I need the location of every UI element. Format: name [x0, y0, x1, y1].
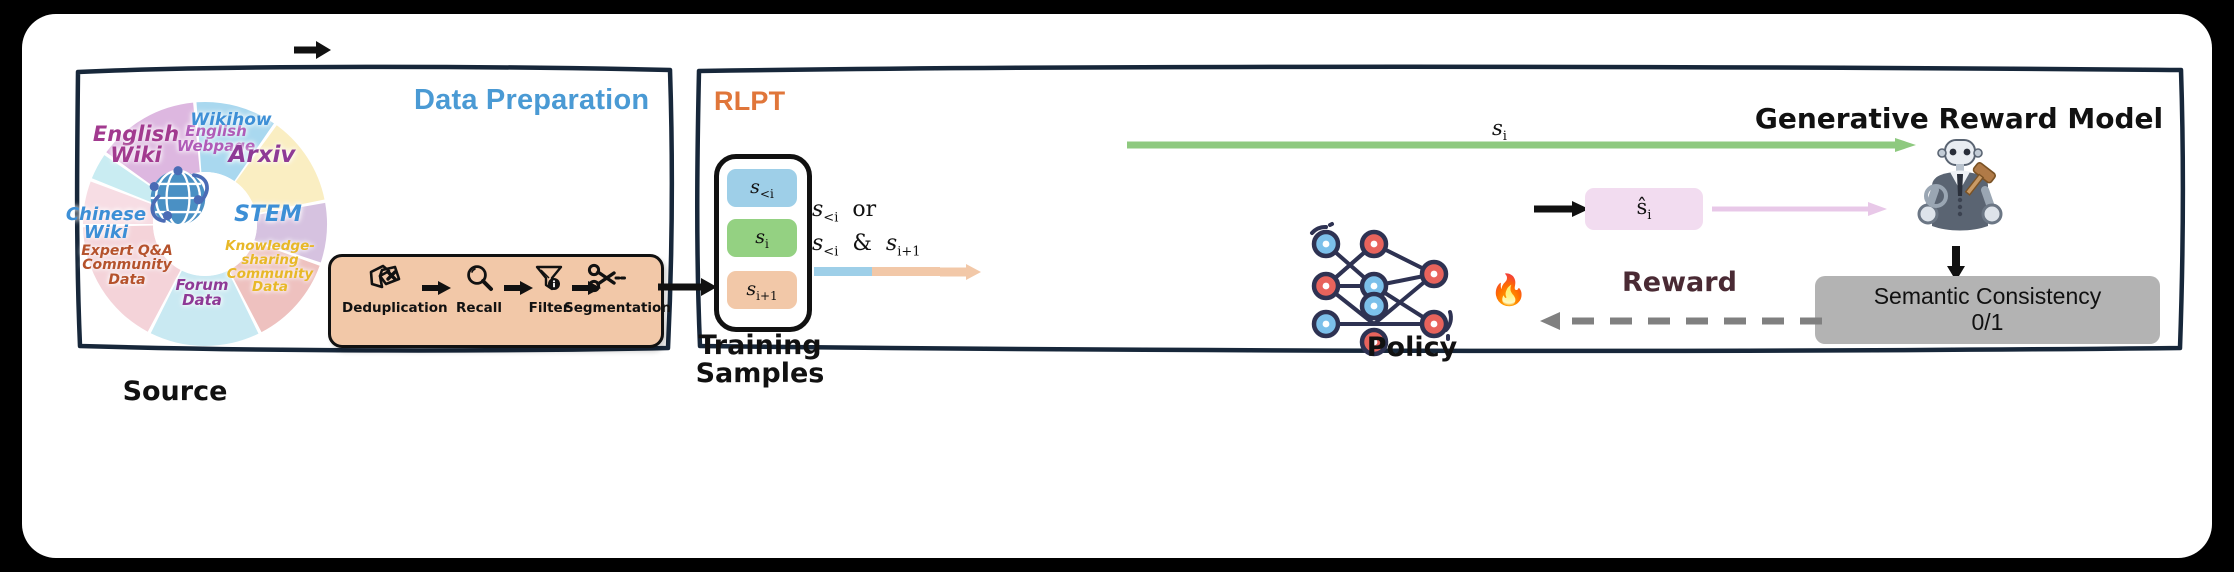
arrow-si-to-reward-model: [1127, 137, 1917, 153]
donut-label-wikihow: Wikihow: [186, 112, 276, 129]
semantic-consistency-line2: 0/1: [1972, 310, 2004, 336]
policy-caption: Policy: [1322, 332, 1502, 363]
arrow-source-to-pipeline: [294, 38, 332, 62]
si-flow-label: si: [1492, 116, 1507, 144]
donut-label-expert-qa: Expert Q&A Community Data: [80, 244, 174, 287]
prediction-box: ŝi: [1585, 188, 1703, 230]
pipeline-stage-label: Deduplication: [342, 300, 428, 316]
chip-label: s<i: [750, 176, 774, 201]
training-samples-caption: Training Samples: [670, 332, 850, 389]
panel-title-rlpt: RLPT: [714, 86, 785, 117]
source-caption: Source: [110, 376, 240, 407]
donut-label-forum-data: Forum Data: [164, 278, 240, 309]
fire-icon: 🔥: [1490, 276, 1527, 306]
arrow-prediction-to-reward-model: [1712, 200, 1888, 218]
training-samples-box: s<i si si+1: [714, 154, 812, 332]
sample-chip-s-i-plus-1: si+1: [727, 271, 797, 309]
semantic-consistency-box: Semantic Consistency 0/1: [1815, 276, 2160, 344]
scissors-icon: [564, 258, 650, 298]
arrow-pipeline-to-samples: [658, 276, 718, 298]
data-preparation-pipeline: Deduplication Recall: [328, 254, 658, 342]
sample-chip-s-i: si: [727, 219, 797, 257]
panel-title-data-preparation: Data Preparation: [414, 84, 649, 117]
prediction-label: ŝi: [1637, 195, 1652, 223]
donut-label-arxiv: Arxiv: [218, 144, 306, 167]
pipeline-stage-deduplication: Deduplication: [342, 258, 428, 316]
sample-input-options: s<i or s<i & si+1: [812, 194, 962, 262]
pipeline-stage-label: Segmentation: [564, 300, 650, 316]
reward-label: Reward: [1622, 267, 1737, 298]
globe-icon: [134, 154, 222, 242]
reward-model-title: Generative Reward Model: [1719, 102, 2199, 135]
figure-canvas: Data Preparation English Wiki English We…: [0, 0, 2234, 572]
pipeline-stage-segmentation: Segmentation: [564, 258, 650, 316]
sample-chip-s-lt-i: s<i: [727, 169, 797, 207]
arrow-samples-to-policy: [940, 262, 982, 282]
arrow-policy-to-prediction: [1534, 199, 1590, 219]
semantic-consistency-line1: Semantic Consistency: [1874, 284, 2102, 310]
chip-label: si+1: [746, 278, 777, 303]
deduplication-icon: [342, 258, 428, 298]
input-bar-prefix: [814, 267, 872, 276]
figure-card: Data Preparation English Wiki English We…: [22, 14, 2212, 558]
donut-label-stem: STEM: [228, 204, 308, 226]
chip-label: si: [755, 226, 769, 251]
robot-judge-icon: [1912, 134, 2008, 242]
arrow-reward-to-policy: [1532, 311, 1822, 331]
input-bar-next: [872, 267, 940, 276]
